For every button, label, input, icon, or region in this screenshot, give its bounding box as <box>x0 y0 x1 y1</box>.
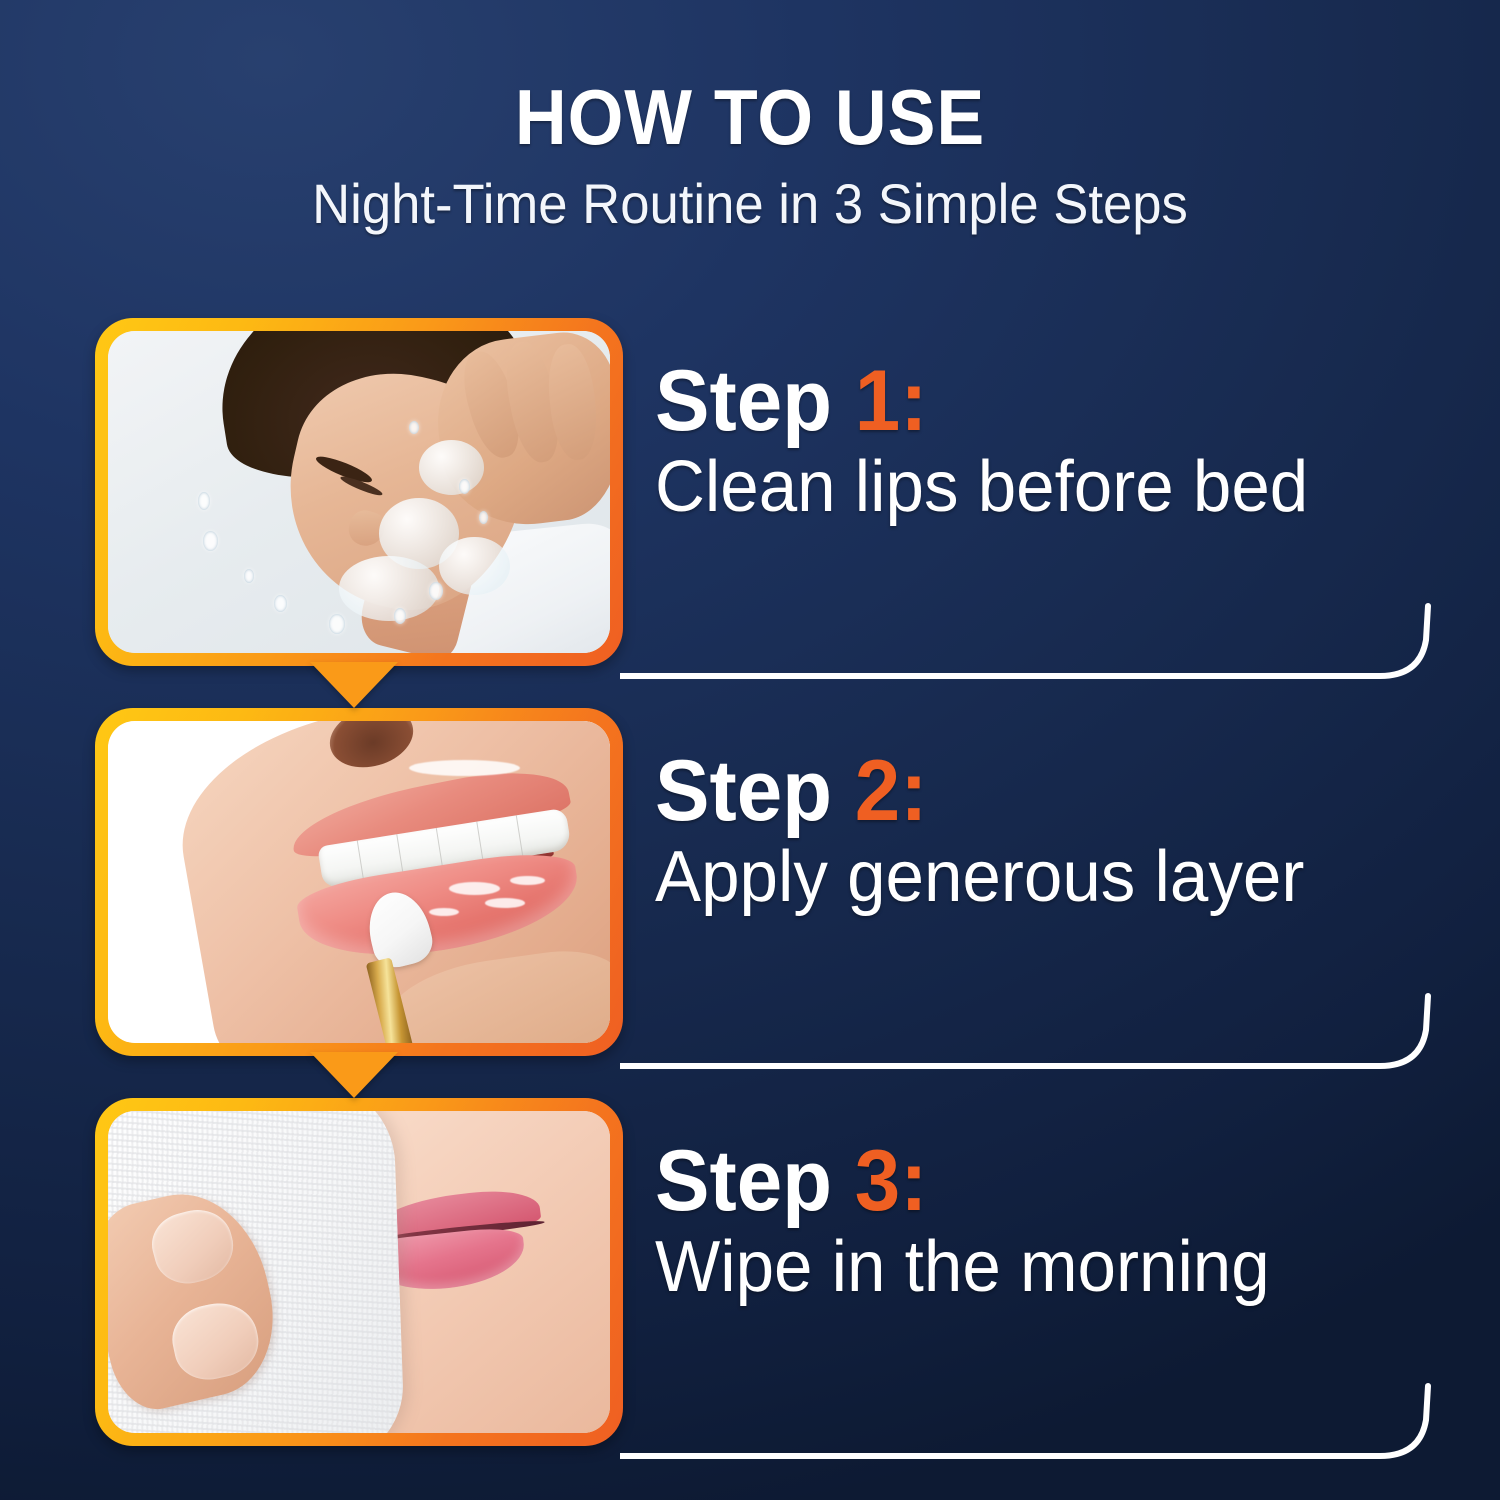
step-2-description: Apply generous layer <box>655 840 1423 915</box>
step-1-photo-frame <box>95 318 623 666</box>
infographic-page: HOW TO USE Night-Time Routine in 3 Simpl… <box>0 0 1500 1500</box>
step-3-text: Step 3: Wipe in the morning <box>655 1138 1455 1305</box>
step-1-number: 1: <box>855 353 928 449</box>
step-3-label: Step 3: <box>655 1138 1415 1226</box>
step-1-underline <box>620 590 1440 700</box>
step-2-photo-frame <box>95 708 623 1056</box>
step-3-photo <box>108 1111 610 1433</box>
page-title: HOW TO USE <box>60 78 1440 156</box>
step-2-label-prefix: Step <box>655 743 855 839</box>
step-3-label-prefix: Step <box>655 1133 855 1229</box>
header: HOW TO USE Night-Time Routine in 3 Simpl… <box>0 78 1500 232</box>
steps-list: Step 1: Clean lips before bed <box>0 318 1500 1448</box>
step-3-underline <box>620 1370 1440 1480</box>
step-2-number: 2: <box>855 743 928 839</box>
step-1-label: Step 1: <box>655 358 1415 446</box>
step-1-text: Step 1: Clean lips before bed <box>655 358 1455 525</box>
page-subtitle: Night-Time Routine in 3 Simple Steps <box>45 176 1455 232</box>
step-1-description: Clean lips before bed <box>655 450 1423 525</box>
step-2-text: Step 2: Apply generous layer <box>655 748 1455 915</box>
step-1-label-prefix: Step <box>655 353 855 449</box>
step-3-photo-frame <box>95 1098 623 1446</box>
step-item-1: Step 1: Clean lips before bed <box>0 318 1500 666</box>
step-item-2: Step 2: Apply generous layer <box>0 708 1500 1056</box>
step-1-to-2-arrow-icon <box>310 662 398 708</box>
step-2-label: Step 2: <box>655 748 1415 836</box>
step-2-photo <box>108 721 610 1043</box>
step-1-photo <box>108 331 610 653</box>
step-3-description: Wipe in the morning <box>655 1230 1423 1305</box>
step-2-underline <box>620 980 1440 1090</box>
step-item-3: Step 3: Wipe in the morning <box>0 1098 1500 1446</box>
step-3-number: 3: <box>855 1133 928 1229</box>
step-2-to-3-arrow-icon <box>310 1052 398 1098</box>
